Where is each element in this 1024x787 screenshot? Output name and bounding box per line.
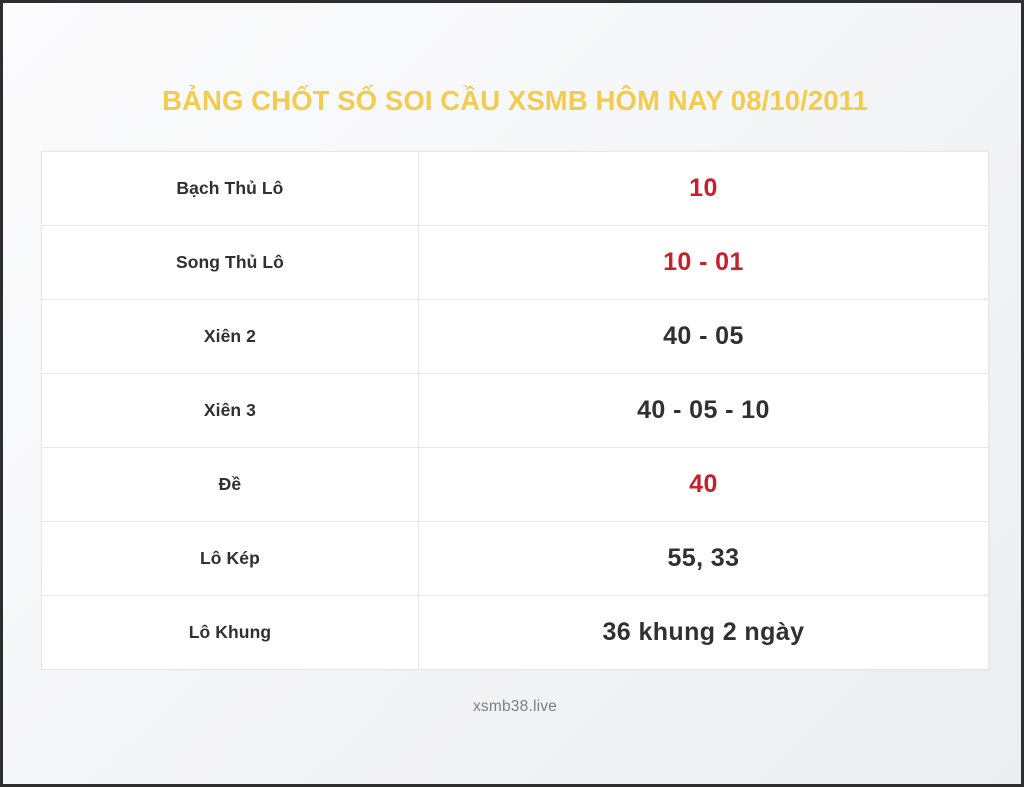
row-value-xien-3: 40 - 05 - 10 bbox=[418, 373, 988, 447]
row-label-de: Đề bbox=[42, 447, 419, 521]
table-row: Đề 40 bbox=[42, 447, 989, 521]
table-row: Lô Kép 55, 33 bbox=[42, 521, 989, 595]
row-label-bach-thu-lo: Bạch Thủ Lô bbox=[42, 151, 419, 225]
row-label-lo-khung: Lô Khung bbox=[42, 595, 419, 669]
row-value-lo-kep: 55, 33 bbox=[418, 521, 988, 595]
image-frame: BẢNG CHỐT SỐ SOI CẦU XSMB HÔM NAY 08/10/… bbox=[0, 0, 1024, 787]
row-value-song-thu-lo: 10 - 01 bbox=[418, 225, 988, 299]
page-container: BẢNG CHỐT SỐ SOI CẦU XSMB HÔM NAY 08/10/… bbox=[6, 6, 1024, 787]
table-row: Bạch Thủ Lô 10 bbox=[42, 151, 989, 225]
site-watermark: xsmb38.live bbox=[473, 698, 557, 716]
row-label-song-thu-lo: Song Thủ Lô bbox=[42, 225, 419, 299]
table-body: Bạch Thủ Lô 10 Song Thủ Lô 10 - 01 Xiên … bbox=[42, 151, 989, 669]
row-value-de: 40 bbox=[418, 447, 988, 521]
row-value-bach-thu-lo: 10 bbox=[418, 151, 988, 225]
lottery-prediction-table: Bạch Thủ Lô 10 Song Thủ Lô 10 - 01 Xiên … bbox=[41, 151, 989, 670]
table-row: Xiên 3 40 - 05 - 10 bbox=[42, 373, 989, 447]
row-label-lo-kep: Lô Kép bbox=[42, 521, 419, 595]
row-value-lo-khung: 36 khung 2 ngày bbox=[418, 595, 988, 669]
table-row: Xiên 2 40 - 05 bbox=[42, 299, 989, 373]
row-label-xien-3: Xiên 3 bbox=[42, 373, 419, 447]
table-row: Lô Khung 36 khung 2 ngày bbox=[42, 595, 989, 669]
lottery-prediction-table-wrapper: Bạch Thủ Lô 10 Song Thủ Lô 10 - 01 Xiên … bbox=[41, 151, 989, 670]
table-row: Song Thủ Lô 10 - 01 bbox=[42, 225, 989, 299]
row-value-xien-2: 40 - 05 bbox=[418, 299, 988, 373]
page-title: BẢNG CHỐT SỐ SOI CẦU XSMB HÔM NAY 08/10/… bbox=[162, 85, 868, 117]
row-label-xien-2: Xiên 2 bbox=[42, 299, 419, 373]
